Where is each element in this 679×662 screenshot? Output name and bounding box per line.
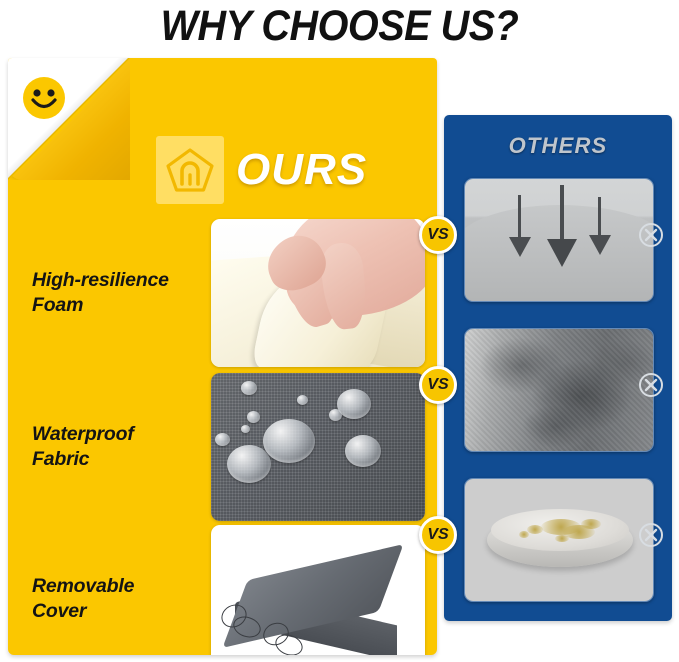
others-image-sagging-foam <box>464 178 654 302</box>
vs-badge-2: VS <box>419 366 457 404</box>
feature-row-foam: High-resilience Foam <box>18 218 437 368</box>
ours-panel: OURS High-resilience Foam Waterproof F <box>8 58 437 655</box>
others-image-stained-cushion <box>464 478 654 602</box>
smiley-face-icon <box>22 76 66 120</box>
others-heading: OTHERS <box>444 133 672 159</box>
feature-label-line1: High-resilience <box>32 269 169 291</box>
ours-header: OURS <box>156 134 426 206</box>
page-title: WHY CHOOSE US? <box>27 0 652 52</box>
feature-label-line1: Removable <box>32 575 134 597</box>
comparison-infographic: WHY CHOOSE US? OURS <box>0 0 679 662</box>
x-circle-icon-1 <box>638 222 664 248</box>
feature-label-line2: Cover <box>32 600 86 622</box>
feature-image-fabric <box>211 373 425 521</box>
feature-image-cover <box>211 525 425 655</box>
home-pentagon-icon <box>156 136 224 204</box>
vs-badge-1: VS <box>419 216 457 254</box>
feature-row-fabric: Waterproof Fabric <box>18 372 437 522</box>
feature-label-line1: Waterproof <box>32 423 134 445</box>
others-image-wet-fabric <box>464 328 654 452</box>
vs-badge-3: VS <box>419 516 457 554</box>
feature-label-line2: Fabric <box>32 448 89 470</box>
feature-label-foam: High-resilience Foam <box>18 268 211 318</box>
x-circle-icon-2 <box>638 372 664 398</box>
x-circle-icon-3 <box>638 522 664 548</box>
feature-label-fabric: Waterproof Fabric <box>18 422 211 472</box>
feature-row-cover: Removable Cover <box>18 524 437 655</box>
ours-heading: OURS <box>236 145 367 195</box>
feature-label-cover: Removable Cover <box>18 574 211 624</box>
feature-label-line2: Foam <box>32 294 83 316</box>
feature-image-foam <box>211 219 425 367</box>
